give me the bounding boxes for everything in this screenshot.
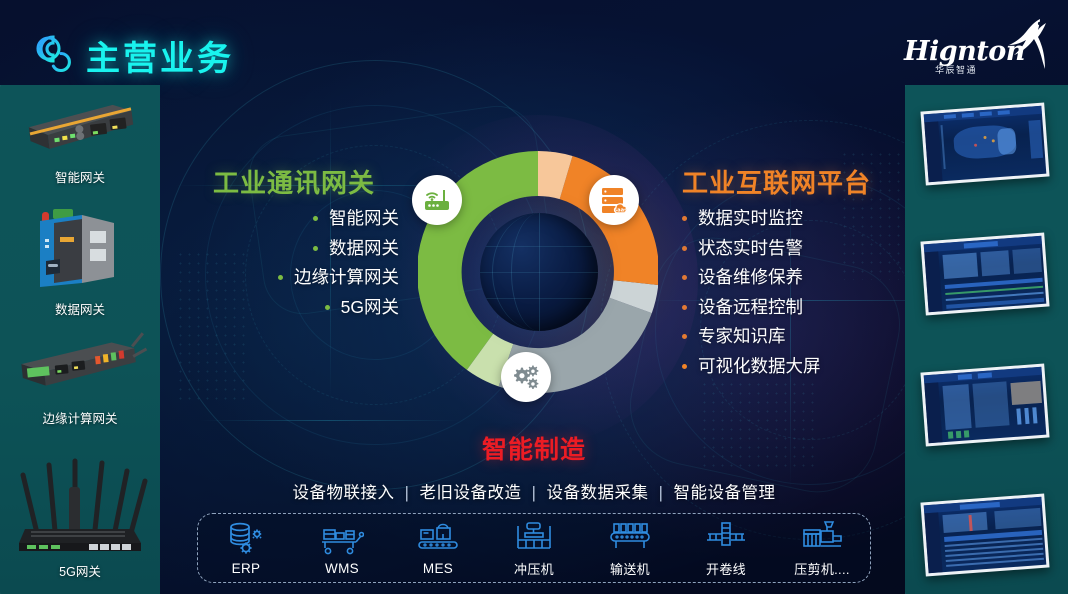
product-item-data-gateway[interactable]: 数据网关 <box>0 195 160 318</box>
slide-canvas: 主营业务 Hignton 华辰智通 <box>0 0 1068 594</box>
equipment-item-press[interactable]: 冲压机 <box>492 518 576 578</box>
equipment-label: 输送机 <box>588 559 672 578</box>
donut-chart: saas <box>418 145 658 405</box>
bullet-dot-icon <box>325 305 330 310</box>
subtitle-item: 设备物联接入 <box>293 484 395 502</box>
right-column-heading: 工业互联网平台 <box>682 163 871 200</box>
dashboard-screenshot-data-table[interactable] <box>923 237 1047 311</box>
equipment-strip: ERP WMS <box>197 513 871 583</box>
equipment-item-shearing[interactable]: 压剪机.... <box>780 518 864 578</box>
bullet-dot-icon <box>313 246 318 251</box>
equipment-item-conveyor[interactable]: 输送机 <box>588 518 672 578</box>
subtitle-item: 智能设备管理 <box>673 484 775 502</box>
list-item-label: 设备维修保养 <box>698 269 803 287</box>
equipment-label: 冲压机 <box>492 559 576 578</box>
uncoiling-line-icon <box>684 518 768 554</box>
conveyor-belt-icon <box>588 518 672 554</box>
equipment-item-uncoiling[interactable]: 开卷线 <box>684 518 768 578</box>
product-label: 数据网关 <box>0 299 160 318</box>
list-item: 智能网关 <box>213 210 399 228</box>
list-item: 边缘计算网关 <box>213 269 399 287</box>
product-item-edge-gateway[interactable]: 边缘计算网关 <box>0 330 160 427</box>
equipment-label: MES <box>396 561 480 576</box>
interlocking-circles-icon <box>31 30 79 78</box>
globe-center-graphic <box>480 213 598 331</box>
subtitle-separator: | <box>405 484 410 502</box>
left-column-heading: 工业通讯网关 <box>213 163 375 200</box>
server-saas-badge: saas <box>589 175 639 225</box>
list-item-label: 可视化数据大屏 <box>698 358 821 376</box>
product-label: 边缘计算网关 <box>0 408 160 427</box>
gears-icon <box>511 364 541 391</box>
database-gear-icon <box>204 520 288 556</box>
product-label: 5G网关 <box>0 561 160 580</box>
dashboard-screenshot-analytics[interactable] <box>923 498 1047 572</box>
equipment-label: WMS <box>300 561 384 576</box>
list-item: 数据网关 <box>213 240 399 258</box>
bullet-dot-icon <box>313 216 318 221</box>
equipment-label: ERP <box>204 561 288 576</box>
list-item: 状态实时告警 <box>682 240 821 258</box>
gears-badge <box>501 352 551 402</box>
subtitle-item: 老旧设备改造 <box>420 484 522 502</box>
equipment-item-mes[interactable]: MES <box>396 520 480 576</box>
smart-gateway-device-image <box>0 91 160 163</box>
brand-cn-name: 华辰智通 <box>935 63 977 76</box>
center-subtitle: 设备物联接入 | 老旧设备改造 | 设备数据采集 | 智能设备管理 <box>0 479 1068 503</box>
stamping-press-icon <box>492 518 576 554</box>
equipment-label: 压剪机.... <box>780 559 864 578</box>
subtitle-separator: | <box>532 484 537 502</box>
dashboard-screenshot-map[interactable] <box>923 107 1047 181</box>
data-gateway-device-image <box>0 195 160 295</box>
server-saas-cloud-icon: saas <box>599 187 629 214</box>
conveyor-boxes-icon <box>396 520 480 556</box>
list-item: 可视化数据大屏 <box>682 358 821 376</box>
slide-header: 主营业务 Hignton 华辰智通 <box>0 0 1068 85</box>
router-wifi-badge <box>412 175 462 225</box>
list-item: 专家知识库 <box>682 328 821 346</box>
list-item: 设备维修保养 <box>682 269 821 287</box>
edge-computing-gateway-device-image <box>0 330 160 404</box>
left-column-bullets: 智能网关 数据网关 边缘计算网关 5G网关 <box>213 210 399 328</box>
list-item-label: 数据实时监控 <box>698 210 803 228</box>
page-title: 主营业务 <box>86 31 234 80</box>
svg-text:saas: saas <box>614 207 627 213</box>
warehouse-cart-icon <box>300 520 384 556</box>
product-item-smart-gateway[interactable]: 智能网关 <box>0 91 160 186</box>
bullet-dot-icon <box>682 364 687 369</box>
equipment-item-erp[interactable]: ERP <box>204 520 288 576</box>
subtitle-separator: | <box>659 484 664 502</box>
bullet-dot-icon <box>278 275 283 280</box>
list-item: 设备远程控制 <box>682 299 821 317</box>
left-product-panel: 智能网关 数据网关 <box>0 85 160 594</box>
right-screenshot-panel <box>905 85 1068 594</box>
subtitle-item: 设备数据采集 <box>546 484 648 502</box>
router-wifi-icon <box>423 187 451 213</box>
list-item: 数据实时监控 <box>682 210 821 228</box>
product-label: 智能网关 <box>0 167 160 186</box>
brand-logo: Hignton 华辰智通 <box>904 16 1054 78</box>
list-item: 5G网关 <box>213 299 399 317</box>
equipment-label: 开卷线 <box>684 559 768 578</box>
list-item-label: 状态实时告警 <box>698 240 803 258</box>
right-column-bullets: 数据实时监控 状态实时告警 设备维修保养 设备远程控制 专家知识库 可视化数据大… <box>682 210 821 387</box>
equipment-item-wms[interactable]: WMS <box>300 520 384 576</box>
list-item-label: 设备远程控制 <box>698 299 803 317</box>
list-item-label: 专家知识库 <box>698 328 786 346</box>
shearing-machine-icon <box>780 518 864 554</box>
center-title: 智能制造 <box>0 430 1068 466</box>
